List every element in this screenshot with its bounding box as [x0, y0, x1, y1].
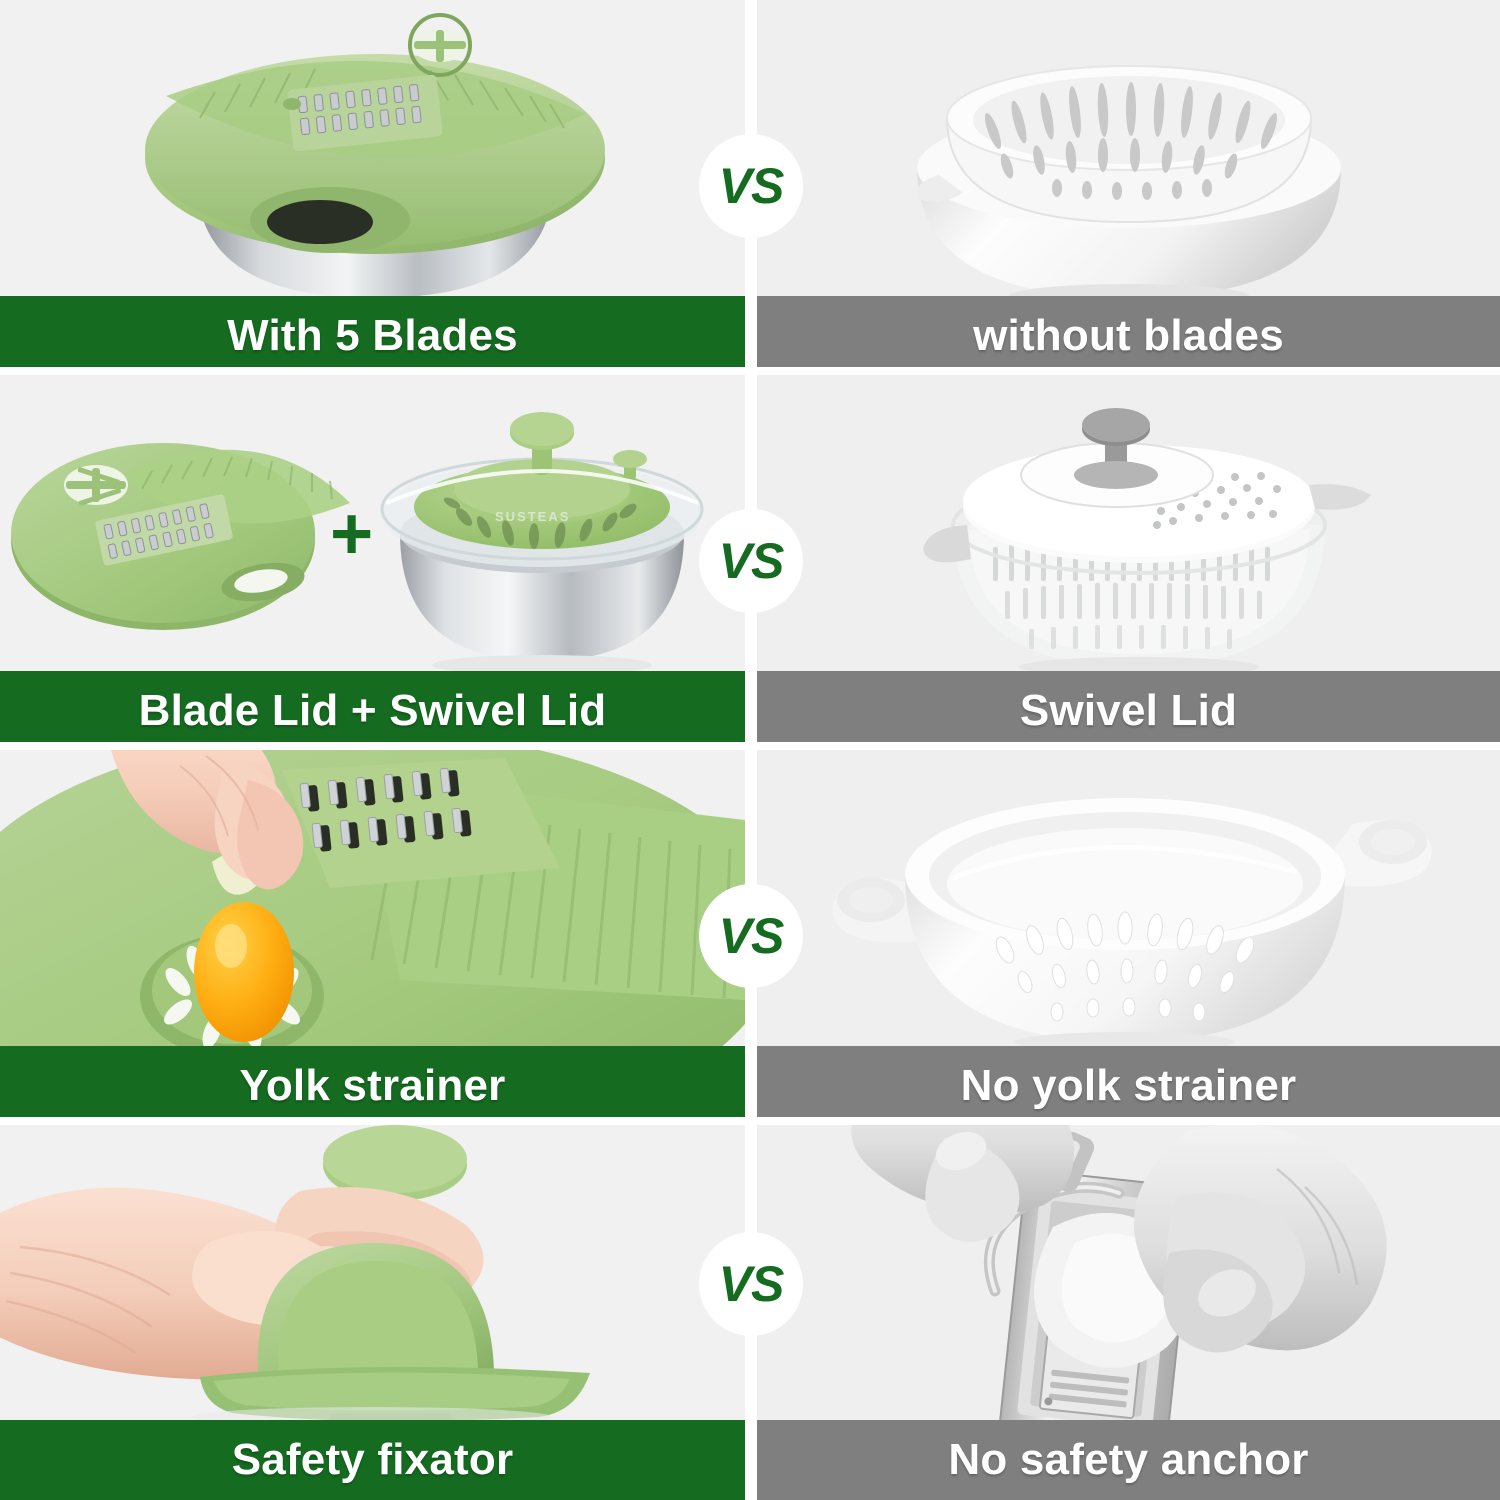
- row-3-left-cell: Yolk strainer: [0, 750, 745, 1125]
- vs-label: VS: [719, 161, 784, 211]
- row-1-left-image: [0, 0, 745, 296]
- row-1-right-image: [757, 0, 1500, 296]
- row-1-left-caption: With 5 Blades: [227, 314, 518, 358]
- vs-label: VS: [719, 911, 784, 961]
- row-4-left-cell: Safety fixator: [0, 1125, 745, 1500]
- row-3-right-caption: No yolk strainer: [961, 1064, 1297, 1108]
- row-divider-3: [0, 1117, 1500, 1125]
- row-3-left-caption: Yolk strainer: [240, 1064, 506, 1108]
- row-4-left-image: [0, 1125, 745, 1420]
- row-2-left-caption: Blade Lid + Swivel Lid: [139, 689, 607, 733]
- row-4-right-caption-band: No safety anchor: [757, 1420, 1500, 1500]
- brand-label: SUSTEAS: [495, 509, 570, 524]
- row-2-right-caption-band: Swivel Lid: [757, 671, 1500, 750]
- row-2-left-image: SUSTEAS +: [0, 375, 745, 671]
- row-1-right-caption: without blades: [973, 314, 1284, 358]
- row-4-left-caption-band: Safety fixator: [0, 1420, 745, 1500]
- row-1-left-caption-band: With 5 Blades: [0, 296, 745, 375]
- row-2-left-cell: SUSTEAS + Blade Lid + Swivel Lid: [0, 375, 745, 750]
- row-4-right-caption: No safety anchor: [948, 1438, 1308, 1482]
- vs-badge-row-3: VS: [699, 884, 803, 988]
- vs-label: VS: [719, 1259, 784, 1309]
- row-divider-2: [0, 742, 1500, 750]
- plus-sign: +: [330, 497, 373, 571]
- row-1-right-caption-band: without blades: [757, 296, 1500, 375]
- row-2-left-caption-band: Blade Lid + Swivel Lid: [0, 671, 745, 750]
- vs-badge-row-4: VS: [699, 1232, 803, 1336]
- row-4-right-cell: No safety anchor: [757, 1125, 1500, 1500]
- row-3-left-caption-band: Yolk strainer: [0, 1046, 745, 1125]
- row-2-right-caption: Swivel Lid: [1020, 689, 1237, 733]
- vs-badge-row-1: VS: [699, 134, 803, 238]
- row-1-right-cell: without blades: [757, 0, 1500, 375]
- row-3-right-image: [757, 750, 1500, 1046]
- row-3-right-cell: No yolk strainer: [757, 750, 1500, 1125]
- vs-label: VS: [719, 536, 784, 586]
- comparison-chart: With 5 Blades: [0, 0, 1500, 1500]
- row-3-left-image: [0, 750, 745, 1046]
- row-3-right-caption-band: No yolk strainer: [757, 1046, 1500, 1125]
- row-divider-1: [0, 367, 1500, 375]
- vs-badge-row-2: VS: [699, 509, 803, 613]
- row-4-right-image: [757, 1125, 1500, 1420]
- row-2-right-cell: Swivel Lid: [757, 375, 1500, 750]
- row-1-left-cell: With 5 Blades: [0, 0, 745, 375]
- row-2-right-image: [757, 375, 1500, 671]
- row-4-left-caption: Safety fixator: [232, 1438, 514, 1482]
